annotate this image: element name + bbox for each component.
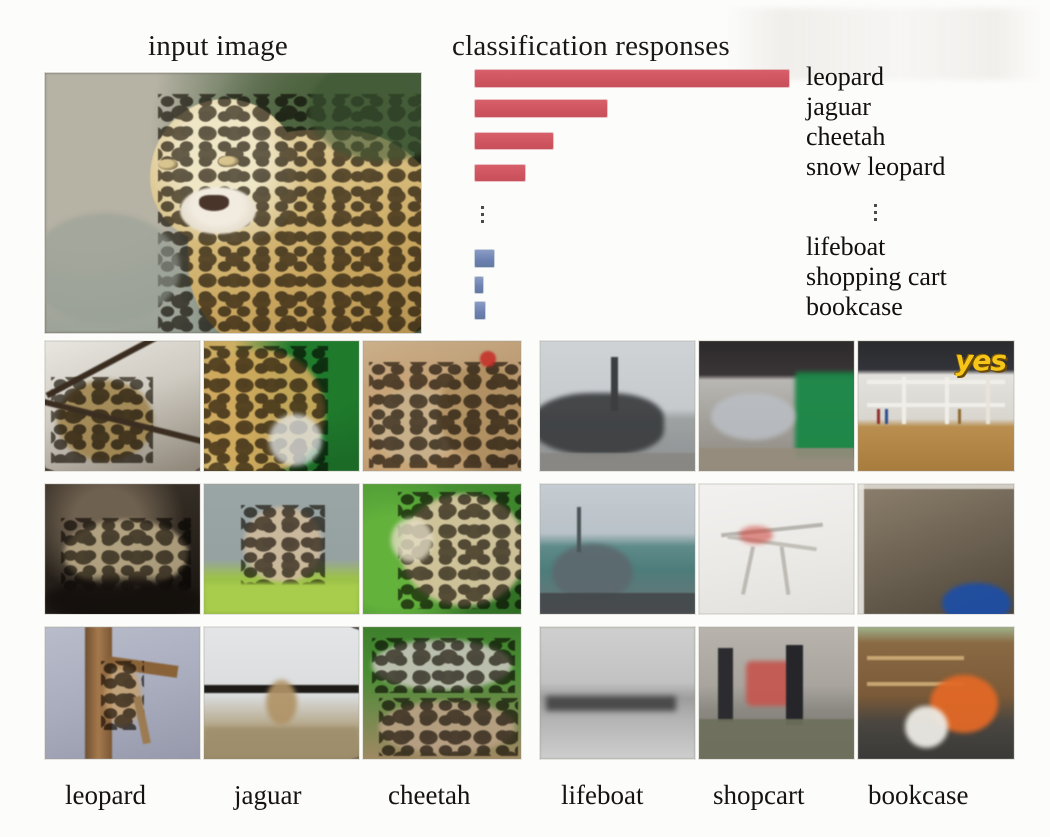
- bar-shopping-cart: [475, 277, 483, 293]
- thumb-r1c6-bookcase: yes: [857, 340, 1015, 472]
- thumb-r1c2-jaguar: [203, 340, 360, 472]
- response-label-cheetah: cheetah: [806, 122, 885, 152]
- response-label-jaguar: jaguar: [806, 92, 871, 122]
- bar-leopard: [475, 70, 789, 87]
- input-image-photo: [44, 72, 422, 334]
- response-label-snow-leopard: snow leopard: [806, 152, 945, 182]
- yes-overlay-text: yes: [955, 344, 1006, 377]
- class-label-leopard: leopard: [65, 780, 146, 811]
- response-label-bookcase: bookcase: [806, 292, 903, 322]
- bar-snow-leopard: [475, 165, 525, 181]
- labels-ellipsis: [874, 200, 877, 225]
- bars-ellipsis: [481, 202, 484, 227]
- response-label-leopard: leopard: [806, 62, 884, 92]
- classification-responses-title: classification responses: [452, 30, 730, 63]
- input-image-title: input image: [148, 30, 288, 63]
- thumb-r3c1-leopard: [44, 626, 201, 760]
- thumb-r2c2-jaguar: [203, 483, 360, 615]
- bar-cheetah: [475, 133, 553, 149]
- thumb-r3c6-bookcase: [857, 626, 1015, 760]
- thumb-r1c1-leopard: [44, 340, 201, 472]
- class-label-bookcase: bookcase: [868, 780, 968, 811]
- thumb-r2c4-lifeboat: [539, 483, 696, 615]
- thumb-r3c3-cheetah: [362, 626, 522, 760]
- class-label-jaguar: jaguar: [234, 780, 301, 811]
- thumb-r1c4-lifeboat: [539, 340, 696, 472]
- response-label-shopping-cart: shopping cart: [806, 262, 947, 292]
- bar-jaguar: [475, 100, 607, 117]
- thumb-r3c4-lifeboat: [539, 626, 696, 760]
- class-label-lifeboat: lifeboat: [561, 780, 643, 811]
- thumb-r2c5-shopcart: [698, 483, 855, 615]
- thumb-r2c1-leopard: [44, 483, 201, 615]
- thumb-r2c3-cheetah: [362, 483, 522, 615]
- class-label-cheetah: cheetah: [388, 780, 470, 811]
- figure-root: input image classification responses leo…: [0, 0, 1050, 837]
- thumb-r1c3-cheetah: [362, 340, 522, 472]
- class-label-shopcart: shopcart: [713, 780, 804, 811]
- thumb-r3c5-shopcart: [698, 626, 855, 760]
- thumb-r3c2-jaguar: [203, 626, 360, 760]
- bar-bookcase: [475, 302, 485, 319]
- thumb-r1c5-shopcart: [698, 340, 855, 472]
- bar-lifeboat: [475, 250, 494, 267]
- thumb-r2c6-bookcase: [857, 483, 1015, 615]
- response-label-lifeboat: lifeboat: [806, 232, 885, 262]
